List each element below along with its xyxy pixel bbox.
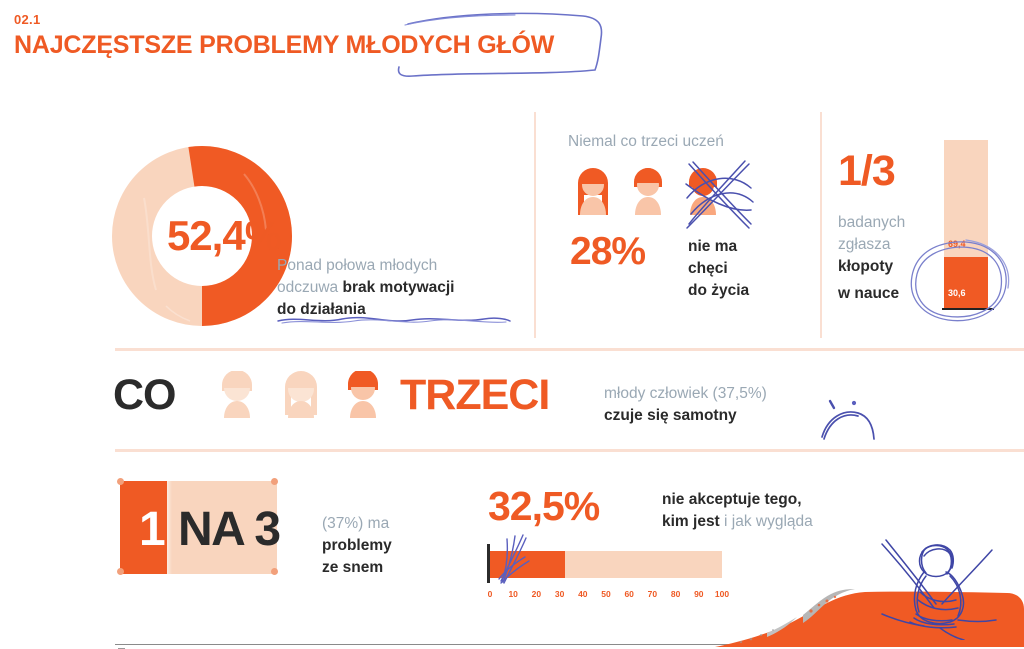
bar-axis-tick-label: 50: [601, 589, 610, 599]
bar-axis-tick-label: 0: [488, 589, 493, 599]
mid-caption-line-3: do życia: [688, 280, 818, 302]
divider-band-2: [115, 449, 1024, 452]
person-long-hair-pale-icon: [275, 371, 327, 421]
divider-band-1: [115, 348, 1024, 351]
person-short-hair-orange-icon: [341, 371, 385, 421]
block-corner-dot-tl: [117, 478, 124, 485]
mid-panel-title: Niemal co trzeci uczeń: [568, 131, 724, 153]
bar-axis-tick-label: 90: [694, 589, 703, 599]
right-caption-line-1: badanych: [838, 212, 943, 234]
donut-caption-bold-1: brak motywacji: [342, 279, 454, 296]
bar-axis-tick-label: 20: [532, 589, 541, 599]
self-caption-bold-2: kim jest: [662, 513, 720, 530]
mid-panel-caption: nie ma chęci do życia: [688, 236, 818, 302]
band-caption-muted: młody człowiek (37,5%): [604, 383, 814, 405]
paper-texture-streak: [167, 481, 172, 574]
one-in-three-numerator: 1: [139, 502, 165, 557]
person-long-hair-icon: [570, 165, 616, 223]
sleep-caption-muted: (37%) ma: [322, 513, 442, 535]
bar-axis-tick-label: 80: [671, 589, 680, 599]
right-panel-fraction: 1/3: [838, 147, 895, 196]
divider-vertical-left: [534, 112, 536, 338]
donut-chart: 52,4%: [104, 138, 300, 334]
infographic-page: 02.1 NAJCZĘSTSZE PROBLEMY MŁODYCH GŁÓW: [0, 0, 1024, 649]
block-corner-dot-br: [271, 568, 278, 575]
mid-caption-line-1: nie ma: [688, 236, 818, 258]
hand-drawn-seated-hunched-figure-icon: [880, 530, 1002, 640]
bar-axis-tick-label: 60: [624, 589, 633, 599]
hand-drawn-circle-annotation-icon: [395, 4, 610, 84]
hand-drawn-cross-out-scribble-icon: [683, 158, 755, 236]
donut-caption-line-2: odczuwa brak motywacji: [277, 277, 512, 299]
donut-caption-line-1: Ponad połowa młodych: [277, 255, 512, 277]
sleep-caption-bold-1: problemy: [322, 535, 442, 557]
self-acceptance-percent: 32,5%: [488, 483, 599, 530]
band-word-co: CO: [113, 371, 176, 420]
bar-axis-tick-label: 10: [508, 589, 517, 599]
bar-axis-tick-label: 30: [555, 589, 564, 599]
donut-caption-normal: odczuwa: [277, 279, 342, 296]
band-caption: młody człowiek (37,5%) czuje się samotny: [604, 383, 814, 427]
person-short-hair-pale-icon: [213, 371, 261, 421]
mid-caption-line-2: chęci: [688, 258, 818, 280]
band-caption-bold: czuje się samotny: [604, 405, 814, 427]
bar-axis-tick-label: 70: [648, 589, 657, 599]
hand-drawn-circle-highlight-icon: [904, 238, 1014, 326]
self-caption-bold-1: nie akceptuje tego,: [662, 489, 912, 511]
block-corner-dot-tr: [271, 478, 278, 485]
mid-panel-percent: 28%: [570, 230, 645, 274]
hand-drawn-arrow-scribble-icon: [493, 533, 533, 585]
one-in-three-label: NA 3: [178, 502, 280, 557]
hand-drawn-sad-face-icon: [818, 395, 878, 445]
person-short-hair-icon: [630, 165, 666, 223]
hand-drawn-underline-squiggle-icon: [276, 312, 512, 328]
self-caption-muted: i jak wygląda: [720, 513, 813, 530]
pictogram-row-band: [213, 371, 385, 421]
sleep-caption: (37%) ma problemy ze snem: [322, 513, 442, 579]
band-word-trzeci: TRZECI: [400, 371, 549, 420]
self-caption-line-2: kim jest i jak wygląda: [662, 511, 912, 533]
block-corner-dot-bl: [117, 568, 124, 575]
sleep-caption-bold-2: ze snem: [322, 557, 442, 579]
bar-axis-tick-label: 40: [578, 589, 587, 599]
divider-vertical-right: [820, 112, 822, 338]
self-acceptance-caption: nie akceptuje tego, kim jest i jak wyglą…: [662, 489, 912, 533]
